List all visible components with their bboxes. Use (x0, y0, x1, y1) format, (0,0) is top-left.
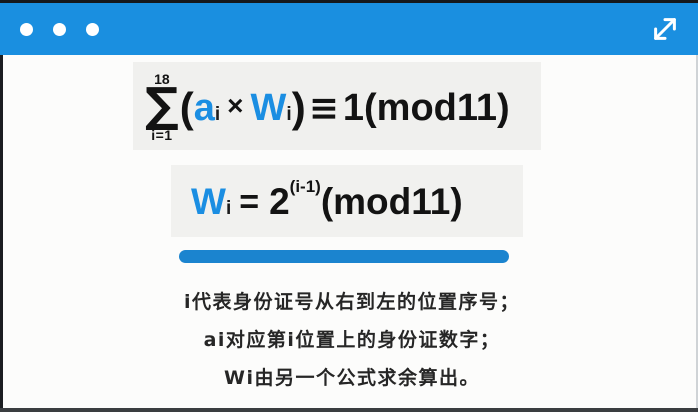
modulus-expression: (mod11) (321, 181, 463, 223)
caption-line-2: ai对应第i位置上的身份证数字； (3, 321, 698, 359)
window-titlebar (0, 3, 698, 55)
window-controls (20, 23, 99, 36)
summation-sigma-icon: ∑ (145, 84, 179, 129)
window-outer-margin (0, 412, 698, 418)
equals-sign: = (239, 183, 259, 222)
formula-weight-equation: Wi = 2(i-1) (mod11) (191, 173, 531, 231)
caption-line-3: Wi由另一个公式求余算出。 (3, 359, 698, 397)
modulus-expression: (mod11) (364, 87, 510, 130)
app-window: 18 ∑ i=1 ( ai × Wi ) ≡ 1 (mod11) Wi = 2(… (0, 0, 698, 418)
variable-a: a (194, 87, 215, 130)
summation-operator: 18 ∑ i=1 (145, 72, 179, 142)
congruence-icon: ≡ (309, 88, 339, 129)
window-dot-1[interactable] (20, 23, 33, 36)
variable-w-subscript: i (286, 104, 291, 126)
congruence-value: 1 (343, 87, 364, 130)
close-parenthesis: ) (292, 84, 306, 132)
formula-checksum-equation: 18 ∑ i=1 ( ai × Wi ) ≡ 1 (mod11) (145, 72, 545, 144)
caption-block: i代表身份证号从右到左的位置序号； ai对应第i位置上的身份证数字； Wi由另一… (3, 283, 698, 397)
window-dot-2[interactable] (53, 23, 66, 36)
expand-arrows-icon[interactable] (650, 14, 680, 44)
variable-w: W (251, 87, 287, 130)
variable-a-subscript: i (215, 104, 220, 126)
window-dot-3[interactable] (86, 23, 99, 36)
summation-lower-limit: i=1 (151, 128, 172, 142)
blue-pill-divider (179, 250, 509, 263)
variable-w-subscript: i (226, 198, 231, 220)
power-base: 2 (269, 181, 290, 223)
power-exponent: (i-1) (290, 177, 321, 197)
open-parenthesis: ( (180, 84, 194, 132)
content-page: 18 ∑ i=1 ( ai × Wi ) ≡ 1 (mod11) Wi = 2(… (0, 55, 698, 413)
caption-line-1: i代表身份证号从右到左的位置序号； (3, 283, 698, 321)
multiplication-icon: × (227, 90, 243, 122)
variable-w: W (191, 181, 226, 223)
